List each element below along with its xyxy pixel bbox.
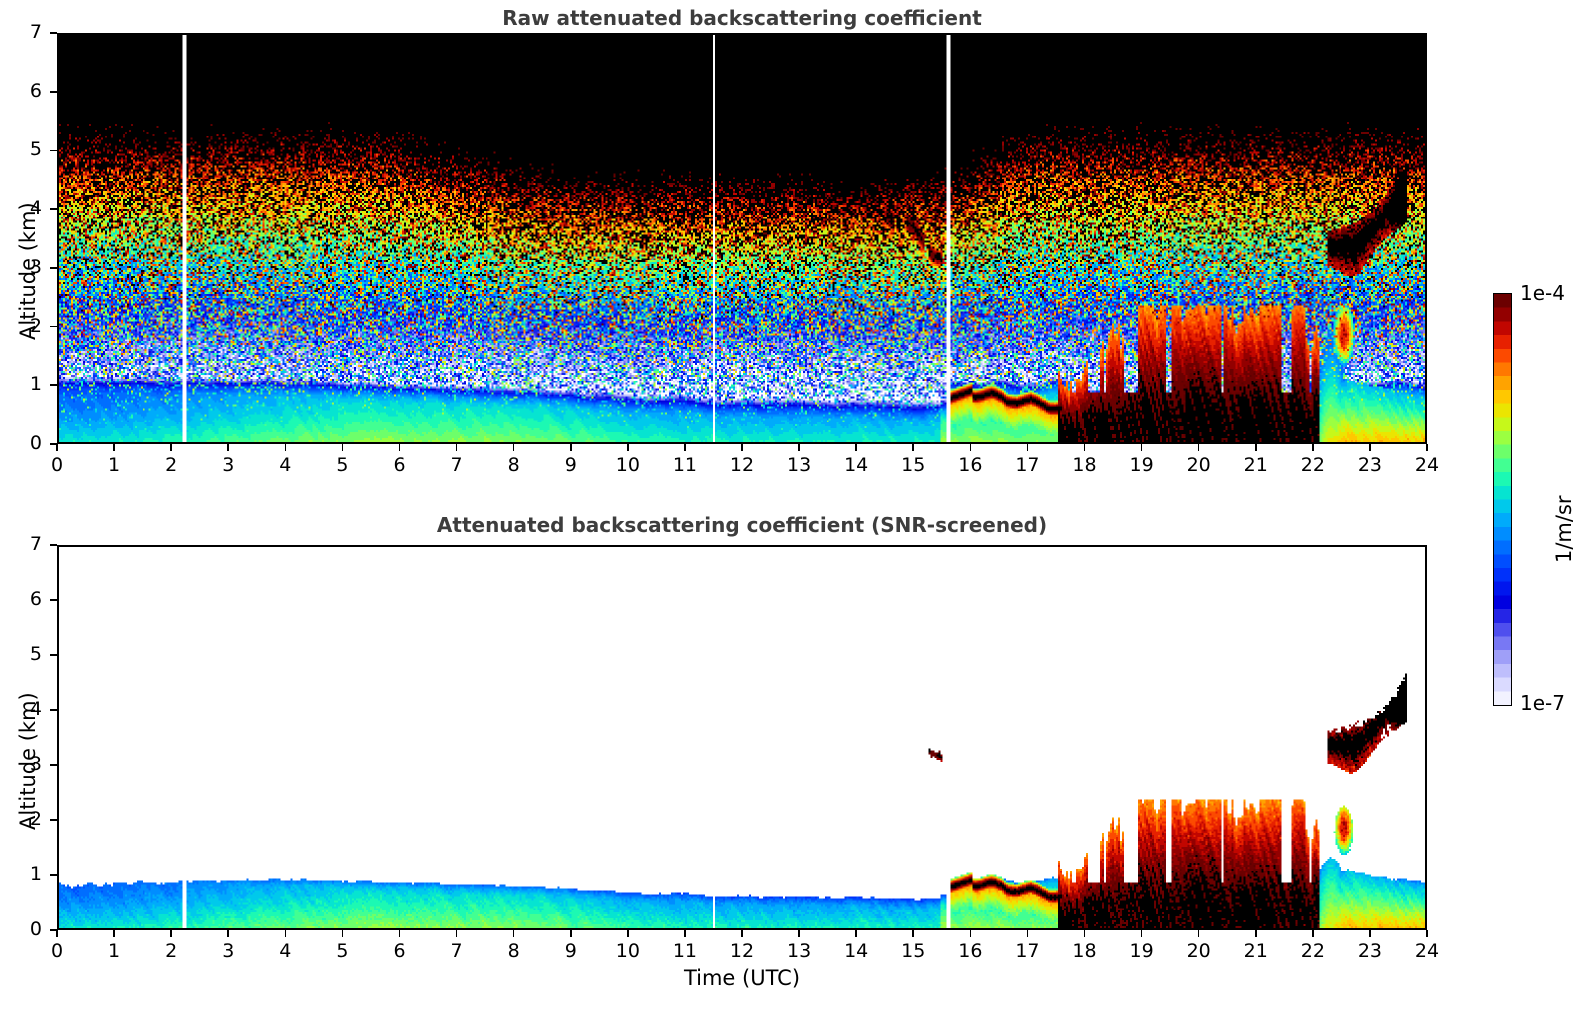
x-tick-label: 2	[151, 940, 191, 962]
x-tick-mark	[1084, 930, 1086, 937]
y-tick-label: 5	[12, 643, 42, 665]
x-tick-label: 19	[1122, 940, 1162, 962]
x-tick-label: 15	[893, 940, 933, 962]
x-tick-label: 0	[37, 454, 77, 476]
x-tick-mark	[113, 444, 115, 451]
panel-title-raw: Raw attenuated backscattering coefficien…	[57, 6, 1427, 30]
colorbar	[1493, 293, 1512, 706]
x-tick-label: 15	[893, 454, 933, 476]
y-tick-mark	[50, 150, 57, 152]
x-tick-label: 12	[722, 454, 762, 476]
x-tick-mark	[227, 444, 229, 451]
x-tick-label: 17	[1007, 940, 1047, 962]
x-tick-label: 7	[437, 940, 477, 962]
x-tick-label: 9	[551, 940, 591, 962]
panel-title-screened: Attenuated backscattering coefficient (S…	[57, 513, 1427, 537]
y-tick-mark	[50, 91, 57, 93]
x-tick-label: 22	[1293, 454, 1333, 476]
heatmap-screened	[59, 547, 1425, 928]
x-tick-mark	[513, 444, 515, 451]
x-tick-mark	[1141, 930, 1143, 937]
x-tick-label: 21	[1236, 940, 1276, 962]
x-tick-label: 4	[265, 940, 305, 962]
x-tick-mark	[1255, 930, 1257, 937]
x-tick-mark	[1198, 930, 1200, 937]
x-tick-mark	[684, 444, 686, 451]
y-tick-mark	[50, 709, 57, 711]
y-tick-label: 3	[12, 753, 42, 775]
x-tick-mark	[1312, 930, 1314, 937]
x-tick-mark	[627, 930, 629, 937]
x-tick-mark	[342, 930, 344, 937]
y-tick-label: 4	[12, 197, 42, 219]
y-tick-mark	[50, 874, 57, 876]
y-tick-mark	[50, 599, 57, 601]
x-tick-mark	[1426, 444, 1428, 451]
x-tick-label: 18	[1065, 940, 1105, 962]
x-tick-label: 13	[779, 940, 819, 962]
x-tick-mark	[56, 444, 58, 451]
x-tick-label: 18	[1065, 454, 1105, 476]
x-tick-mark	[798, 930, 800, 937]
x-tick-label: 2	[151, 454, 191, 476]
colorbar-max-label: 1e-4	[1520, 281, 1565, 305]
y-tick-label: 6	[12, 80, 42, 102]
x-tick-mark	[570, 444, 572, 451]
x-tick-label: 9	[551, 454, 591, 476]
y-tick-label: 1	[12, 863, 42, 885]
x-tick-mark	[170, 930, 172, 937]
y-tick-mark	[50, 764, 57, 766]
x-tick-mark	[1255, 444, 1257, 451]
x-tick-label: 6	[380, 940, 420, 962]
y-tick-mark	[50, 929, 57, 931]
x-tick-mark	[798, 444, 800, 451]
x-tick-label: 3	[208, 940, 248, 962]
x-tick-mark	[1084, 444, 1086, 451]
x-tick-mark	[627, 444, 629, 451]
x-tick-mark	[741, 444, 743, 451]
x-tick-mark	[399, 930, 401, 937]
y-tick-label: 0	[12, 432, 42, 454]
x-tick-mark	[855, 930, 857, 937]
lidar-quicklook-figure: Raw attenuated backscattering coefficien…	[0, 0, 1595, 1020]
x-tick-mark	[227, 930, 229, 937]
x-tick-mark	[855, 444, 857, 451]
y-tick-mark	[50, 267, 57, 269]
y-tick-label: 3	[12, 256, 42, 278]
x-tick-mark	[513, 930, 515, 937]
plot-area-raw	[57, 33, 1427, 444]
x-tick-label: 3	[208, 454, 248, 476]
x-tick-label: 8	[494, 454, 534, 476]
x-tick-mark	[1141, 444, 1143, 451]
y-tick-label: 0	[12, 918, 42, 940]
x-tick-mark	[56, 930, 58, 937]
x-tick-label: 17	[1007, 454, 1047, 476]
x-tick-mark	[912, 444, 914, 451]
x-tick-label: 16	[950, 454, 990, 476]
y-tick-mark	[50, 208, 57, 210]
x-tick-mark	[741, 930, 743, 937]
x-tick-label: 10	[608, 940, 648, 962]
y-tick-mark	[50, 544, 57, 546]
x-tick-mark	[342, 444, 344, 451]
x-tick-label: 1	[94, 940, 134, 962]
plot-area-screened	[57, 545, 1427, 930]
x-tick-label: 22	[1293, 940, 1333, 962]
x-tick-label: 20	[1179, 940, 1219, 962]
x-tick-mark	[456, 930, 458, 937]
x-tick-label: 13	[779, 454, 819, 476]
colorbar-gradient	[1494, 294, 1511, 705]
x-tick-mark	[399, 444, 401, 451]
x-tick-mark	[285, 930, 287, 937]
x-tick-label: 12	[722, 940, 762, 962]
x-tick-mark	[912, 930, 914, 937]
heatmap-raw	[59, 35, 1425, 442]
y-tick-mark	[50, 384, 57, 386]
y-tick-label: 2	[12, 315, 42, 337]
x-tick-label: 23	[1350, 454, 1390, 476]
x-tick-mark	[1369, 444, 1371, 451]
y-tick-label: 2	[12, 808, 42, 830]
x-tick-mark	[170, 444, 172, 451]
colorbar-min-label: 1e-7	[1520, 691, 1565, 715]
y-tick-mark	[50, 326, 57, 328]
y-tick-mark	[50, 32, 57, 34]
x-tick-mark	[970, 930, 972, 937]
x-tick-label: 23	[1350, 940, 1390, 962]
x-tick-label: 20	[1179, 454, 1219, 476]
x-tick-label: 0	[37, 940, 77, 962]
x-tick-label: 21	[1236, 454, 1276, 476]
x-tick-label: 14	[836, 454, 876, 476]
x-tick-mark	[285, 444, 287, 451]
x-tick-label: 5	[322, 454, 362, 476]
x-tick-label: 24	[1407, 454, 1447, 476]
x-tick-mark	[1426, 930, 1428, 937]
x-tick-mark	[1312, 444, 1314, 451]
x-tick-label: 24	[1407, 940, 1447, 962]
y-tick-label: 5	[12, 138, 42, 160]
x-tick-mark	[113, 930, 115, 937]
x-tick-label: 1	[94, 454, 134, 476]
x-tick-label: 11	[665, 940, 705, 962]
y-tick-label: 7	[12, 21, 42, 43]
x-tick-label: 10	[608, 454, 648, 476]
x-tick-label: 5	[322, 940, 362, 962]
x-axis-label: Time (UTC)	[57, 966, 1427, 990]
x-tick-mark	[684, 930, 686, 937]
x-tick-mark	[1369, 930, 1371, 937]
x-tick-mark	[1198, 444, 1200, 451]
y-tick-label: 1	[12, 373, 42, 395]
colorbar-unit-label: 1/m/sr	[1552, 495, 1576, 563]
x-tick-mark	[1027, 444, 1029, 451]
x-tick-mark	[570, 930, 572, 937]
y-tick-mark	[50, 443, 57, 445]
x-tick-label: 11	[665, 454, 705, 476]
x-tick-label: 14	[836, 940, 876, 962]
x-tick-mark	[970, 444, 972, 451]
y-tick-label: 4	[12, 698, 42, 720]
x-tick-label: 16	[950, 940, 990, 962]
x-tick-mark	[1027, 930, 1029, 937]
x-tick-mark	[456, 444, 458, 451]
x-tick-label: 19	[1122, 454, 1162, 476]
x-tick-label: 7	[437, 454, 477, 476]
y-tick-label: 6	[12, 588, 42, 610]
y-tick-mark	[50, 819, 57, 821]
x-tick-label: 6	[380, 454, 420, 476]
x-tick-label: 8	[494, 940, 534, 962]
x-tick-label: 4	[265, 454, 305, 476]
y-tick-mark	[50, 654, 57, 656]
y-tick-label: 7	[12, 533, 42, 555]
